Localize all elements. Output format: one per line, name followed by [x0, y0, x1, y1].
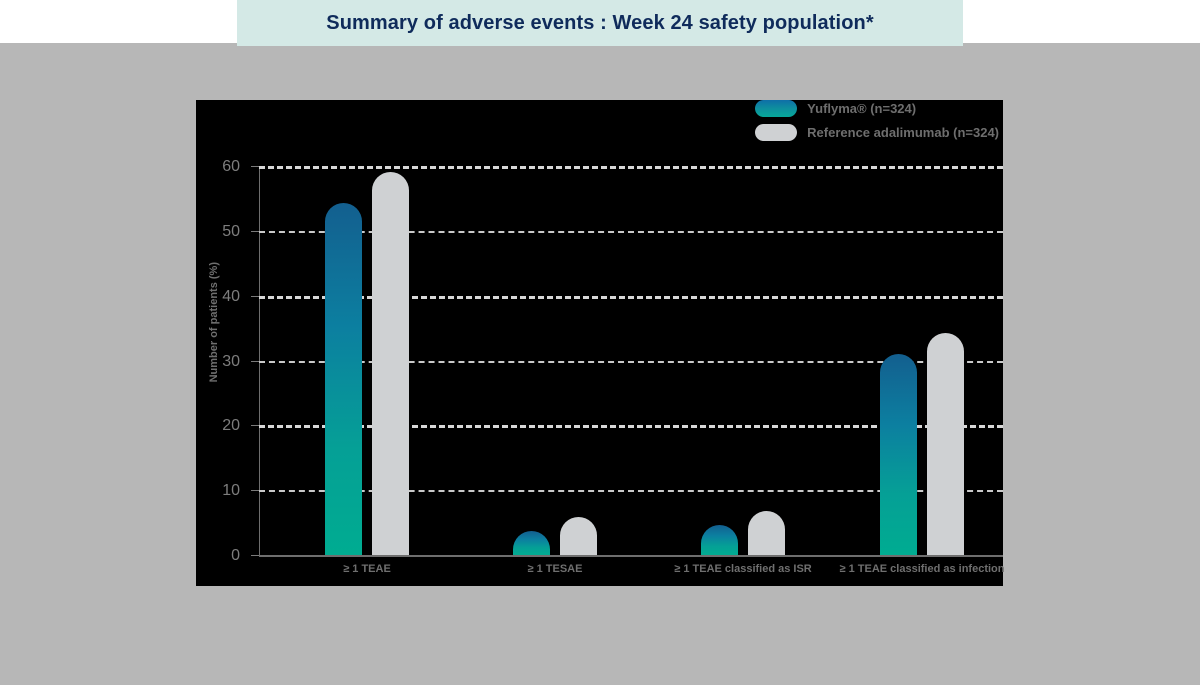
y-axis-tick: 20 [251, 425, 259, 426]
y-axis-tick: 50 [251, 231, 259, 232]
bar-reference-1 [560, 517, 597, 555]
bar-yuflyma-3 [880, 354, 917, 555]
y-axis-tick: 30 [251, 361, 259, 362]
y-axis-tick-label: 10 [222, 482, 240, 500]
bar-reference-2 [748, 511, 785, 555]
x-axis-tick-label: ≥ 1 TEAE [343, 563, 391, 575]
y-axis-tick: 0 [251, 555, 259, 556]
bar-reference-3 [927, 333, 964, 555]
x-axis-tick-label: ≥ 1 TEAE classified as infection [840, 563, 1005, 575]
y-axis-tick-label: 20 [222, 417, 240, 435]
gridline [259, 231, 1003, 233]
x-axis-line [259, 555, 1003, 557]
y-axis-tick-label: 0 [231, 547, 240, 565]
slide-title-bar: Summary of adverse events : Week 24 safe… [237, 0, 963, 46]
legend-item-yuflyma: Yuflyma® (n=324) [755, 100, 916, 117]
gridline [259, 166, 1003, 169]
legend-label-reference-adalimumab: Reference adalimumab (n=324) [807, 125, 999, 140]
y-axis-title: Number of patients (%) [208, 262, 220, 382]
plot-area: 0102030405060 ≥ 1 TEAE≥ 1 TESAE≥ 1 TEAE … [259, 166, 1003, 555]
chart-legend: Yuflyma® (n=324) Reference adalimumab (n… [755, 100, 999, 141]
bar-yuflyma-0 [325, 203, 362, 555]
y-axis-tick-label: 50 [222, 223, 240, 241]
y-axis-tick-label: 30 [222, 353, 240, 371]
page-title: Summary of adverse events : Week 24 safe… [326, 12, 873, 35]
page-root: Summary of adverse events : Week 24 safe… [0, 0, 1200, 685]
x-axis-tick-label: ≥ 1 TESAE [528, 563, 583, 575]
grey-pill-swatch [755, 124, 797, 141]
y-axis-tick: 60 [251, 166, 259, 167]
bar-yuflyma-2 [701, 525, 738, 555]
chart-panel: Yuflyma® (n=324) Reference adalimumab (n… [196, 100, 1003, 586]
bar-yuflyma-1 [513, 531, 550, 555]
y-axis-tick: 40 [251, 296, 259, 297]
y-axis-tick: 10 [251, 490, 259, 491]
bar-reference-0 [372, 172, 409, 555]
legend-item-reference-adalimumab: Reference adalimumab (n=324) [755, 124, 999, 141]
y-axis-tick-label: 40 [222, 288, 240, 306]
legend-label-yuflyma: Yuflyma® (n=324) [807, 101, 916, 116]
y-axis-tick-label: 60 [222, 158, 240, 176]
gridline [259, 296, 1003, 299]
x-axis-tick-label: ≥ 1 TEAE classified as ISR [674, 563, 811, 575]
teal-pill-swatch [755, 100, 797, 117]
